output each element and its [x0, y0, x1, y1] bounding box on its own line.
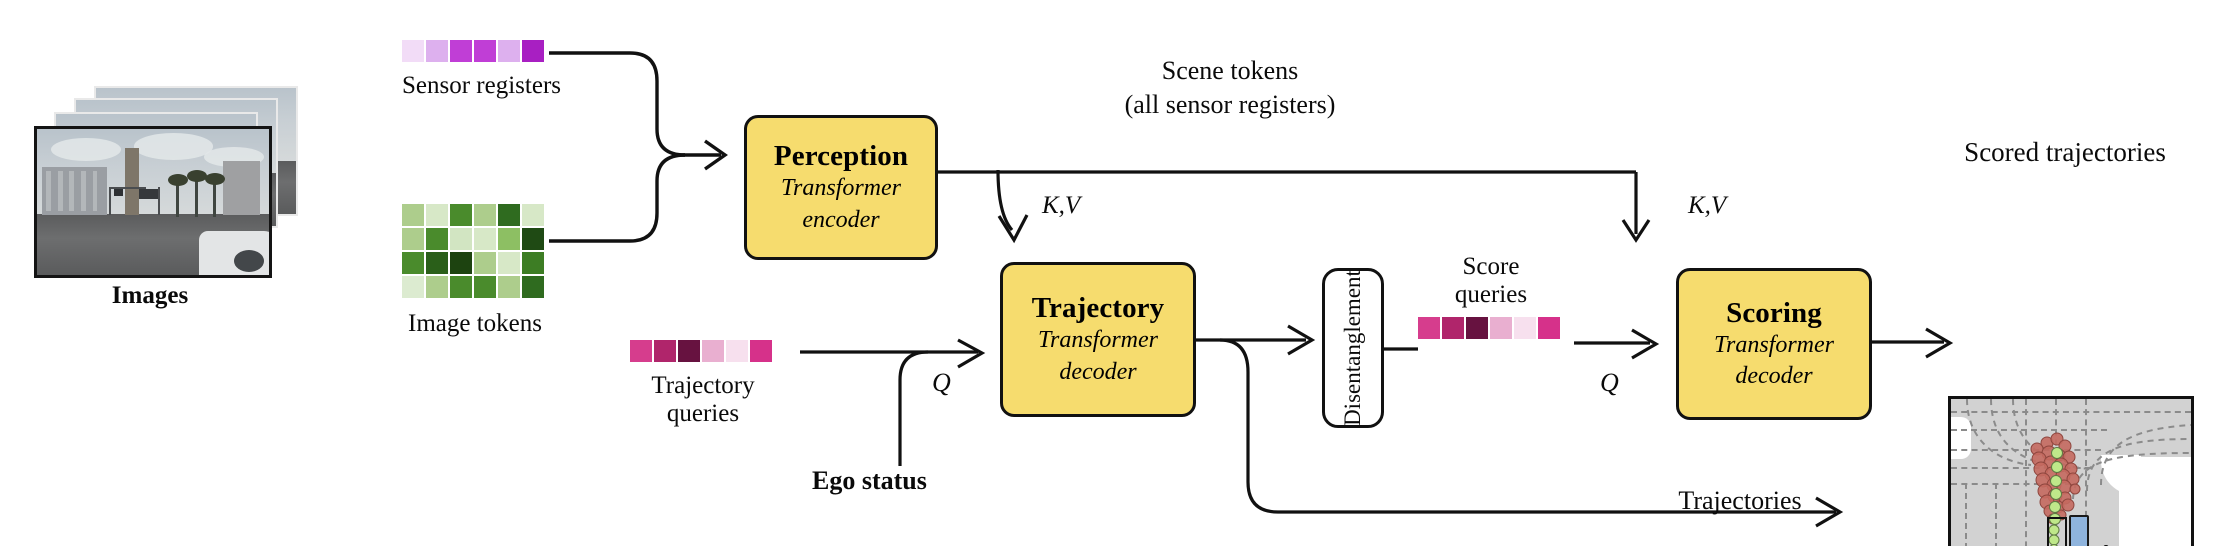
scoring-output-arrow — [1872, 328, 1982, 364]
sensor-register-cell-1 — [426, 40, 448, 62]
image-token-cell-1-4 — [498, 228, 520, 250]
image-token-cell-1-0 — [402, 228, 424, 250]
trajectory-query-cell-0 — [630, 340, 652, 362]
image-token-cell-0-2 — [450, 204, 472, 226]
ego-status-label: Ego status — [812, 466, 927, 496]
perception-title: Perception — [774, 139, 908, 173]
kv-label-perception: K,V — [1042, 192, 1080, 220]
score-query-cell-1 — [1442, 317, 1464, 339]
image-token-cell-3-3 — [474, 276, 496, 298]
scoring-title: Scoring — [1726, 296, 1822, 330]
score-query-cell-0 — [1418, 317, 1440, 339]
sensor-registers-strip — [402, 40, 548, 62]
trajectory-queries-label-line2: queries — [630, 400, 776, 428]
trajectory-query-cell-3 — [702, 340, 724, 362]
kv-label-scoring: K,V — [1688, 192, 1726, 220]
score-queries-strip — [1418, 317, 1564, 339]
images-label: Images — [34, 282, 266, 310]
score-query-cell-4 — [1514, 317, 1536, 339]
scene-tokens-label-line2: (all sensor registers) — [1040, 90, 1420, 120]
image-token-cell-0-1 — [426, 204, 448, 226]
disentanglement-block[interactable]: Disentanglement — [1322, 268, 1384, 428]
image-tokens-row-1 — [402, 228, 548, 250]
image-tokens-label: Image tokens — [402, 310, 548, 338]
trajectory-query-cell-5 — [750, 340, 772, 362]
camera-image-front — [34, 126, 272, 278]
image-token-cell-1-2 — [450, 228, 472, 250]
trajectory-queries-label-line1: Trajectory — [630, 372, 776, 400]
image-tokens-row-0 — [402, 204, 548, 226]
scoring-block[interactable]: Scoring Transformer decoder — [1676, 268, 1872, 420]
image-tokens-group: Image tokens — [402, 204, 548, 338]
sensor-register-cell-2 — [450, 40, 472, 62]
image-token-cell-2-0 — [402, 252, 424, 274]
sensor-register-cell-4 — [498, 40, 520, 62]
figure-canvas: Images Sensor registers Image tokens Per… — [0, 0, 2214, 546]
image-token-cell-0-5 — [522, 204, 544, 226]
trajectory-queries-strip — [630, 340, 776, 362]
image-token-cell-2-3 — [474, 252, 496, 274]
image-token-cell-2-2 — [450, 252, 472, 274]
score-query-cell-2 — [1466, 317, 1488, 339]
score-queries-group: Score queries — [1418, 253, 1564, 339]
trajectory-query-cell-2 — [678, 340, 700, 362]
image-token-cell-3-5 — [522, 276, 544, 298]
score-queries-label-line1: Score — [1418, 253, 1564, 281]
image-token-cell-2-1 — [426, 252, 448, 274]
image-token-cell-3-1 — [426, 276, 448, 298]
image-token-cell-0-3 — [474, 204, 496, 226]
sensor-registers-label: Sensor registers — [402, 72, 548, 100]
perception-subtitle-line1: Transformer — [781, 173, 901, 204]
trajectory-query-cell-1 — [654, 340, 676, 362]
image-token-cell-3-2 — [450, 276, 472, 298]
score-queries-label-line2: queries — [1418, 281, 1564, 309]
trajectory-title: Trajectory — [1032, 291, 1165, 325]
trajectory-block[interactable]: Trajectory Transformer decoder — [1000, 262, 1196, 417]
sensor-register-cell-5 — [522, 40, 544, 62]
perception-subtitle-line2: encoder — [802, 205, 879, 236]
trajectory-subtitle-line1: Transformer — [1038, 325, 1158, 356]
image-tokens-grid — [402, 204, 548, 298]
trajectory-queries-group: Trajectory queries — [630, 340, 776, 428]
image-tokens-row-2 — [402, 252, 548, 274]
trajectory-query-cell-4 — [726, 340, 748, 362]
image-token-cell-0-0 — [402, 204, 424, 226]
image-token-cell-1-5 — [522, 228, 544, 250]
image-tokens-feed-line — [565, 236, 725, 248]
disentanglement-to-score-queries — [1384, 344, 1424, 354]
q-label-scoring: Q — [1600, 368, 1619, 398]
image-token-cell-3-0 — [402, 276, 424, 298]
image-token-cell-1-3 — [474, 228, 496, 250]
image-token-cell-0-4 — [498, 204, 520, 226]
trajectories-edge-label: Trajectories — [1610, 486, 1870, 516]
sensor-registers-group: Sensor registers — [402, 40, 548, 100]
image-token-cell-1-1 — [426, 228, 448, 250]
ego-vehicle-box — [2047, 517, 2067, 546]
score-query-cell-3 — [1490, 317, 1512, 339]
sensor-register-cell-0 — [402, 40, 424, 62]
image-token-cell-2-5 — [522, 252, 544, 274]
scoring-subtitle-line2: decoder — [1735, 361, 1812, 392]
scored-trajectories-panel — [1948, 396, 2194, 546]
scored-trajectories-label: Scored trajectories — [1930, 137, 2200, 168]
score-query-cell-5 — [1538, 317, 1560, 339]
camera-image-stack: Images — [34, 86, 304, 286]
image-tokens-row-3 — [402, 276, 548, 298]
image-token-cell-3-4 — [498, 276, 520, 298]
trajectory-subtitle-line2: decoder — [1059, 357, 1136, 388]
disentanglement-title: Disentanglement — [1340, 270, 1366, 426]
sensor-register-cell-3 — [474, 40, 496, 62]
image-token-cell-2-4 — [498, 252, 520, 274]
scoring-subtitle-line1: Transformer — [1714, 330, 1834, 361]
q-label-trajectory: Q — [932, 368, 951, 398]
scene-tokens-label-line1: Scene tokens — [1080, 56, 1380, 86]
perception-block[interactable]: Perception Transformer encoder — [744, 115, 938, 260]
